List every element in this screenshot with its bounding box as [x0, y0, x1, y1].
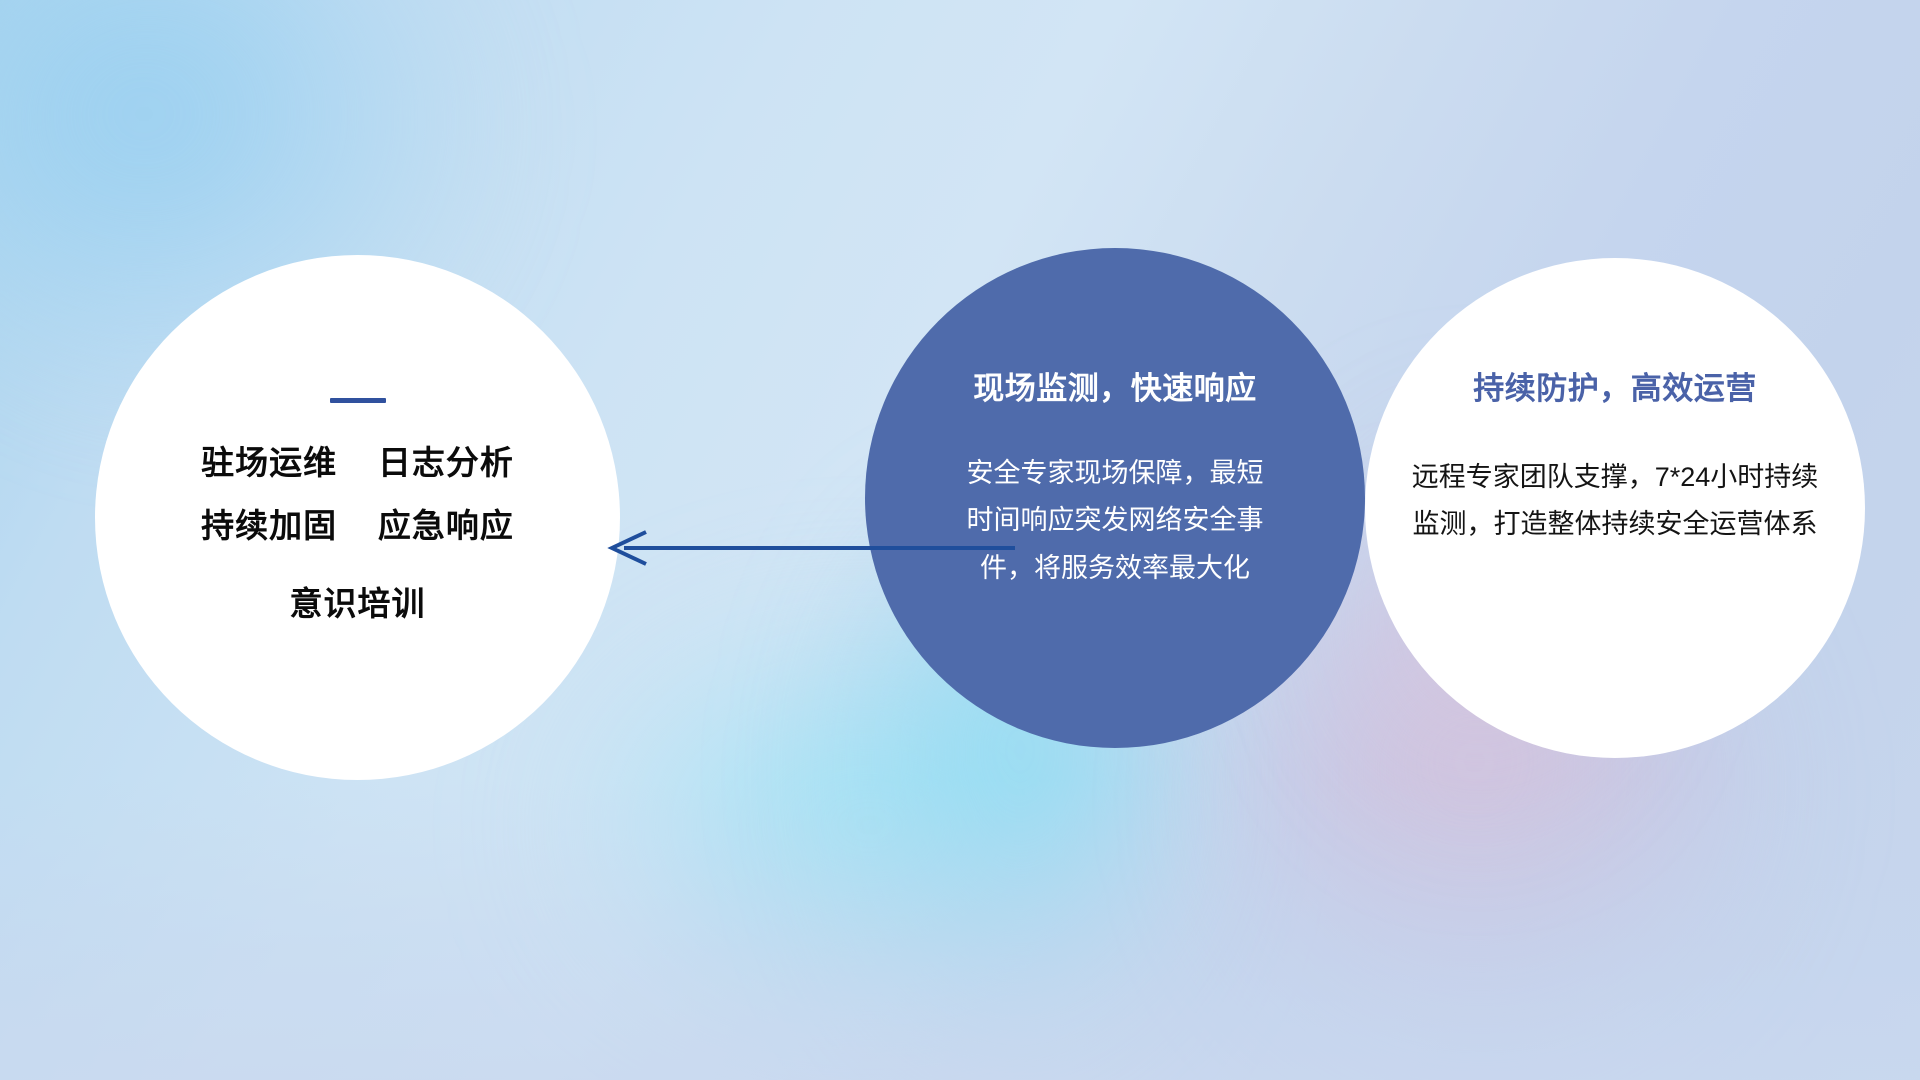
continuous-protection-body: 远程专家团队支撑，7*24小时持续监测，打造整体持续安全运营体系	[1409, 454, 1821, 548]
capability-line-3: 意识培训	[95, 572, 620, 635]
infographic-canvas: 驻场运维 日志分析 持续加固 应急响应 意识培训 现场监测，快速响应 安全专家现…	[0, 0, 1920, 1080]
divider-rule-icon	[330, 398, 386, 403]
capabilities-circle[interactable]: 驻场运维 日志分析 持续加固 应急响应 意识培训	[95, 255, 620, 780]
flow-arrow	[600, 518, 1020, 578]
continuous-protection-circle[interactable]: 持续防护，高效运营 远程专家团队支撑，7*24小时持续监测，打造整体持续安全运营…	[1365, 258, 1865, 758]
capability-line-2: 持续加固 应急响应	[95, 494, 620, 557]
onsite-monitoring-circle[interactable]: 现场监测，快速响应 安全专家现场保障，最短时间响应突发网络安全事件，将服务效率最…	[865, 248, 1365, 748]
capability-line-1: 驻场运维 日志分析	[95, 431, 620, 494]
arrow-left-icon	[600, 518, 1020, 578]
onsite-monitoring-title: 现场监测，快速响应	[973, 363, 1257, 408]
continuous-protection-title: 持续防护，高效运营	[1473, 363, 1757, 408]
capabilities-list: 驻场运维 日志分析 持续加固 应急响应 意识培训	[95, 431, 620, 635]
